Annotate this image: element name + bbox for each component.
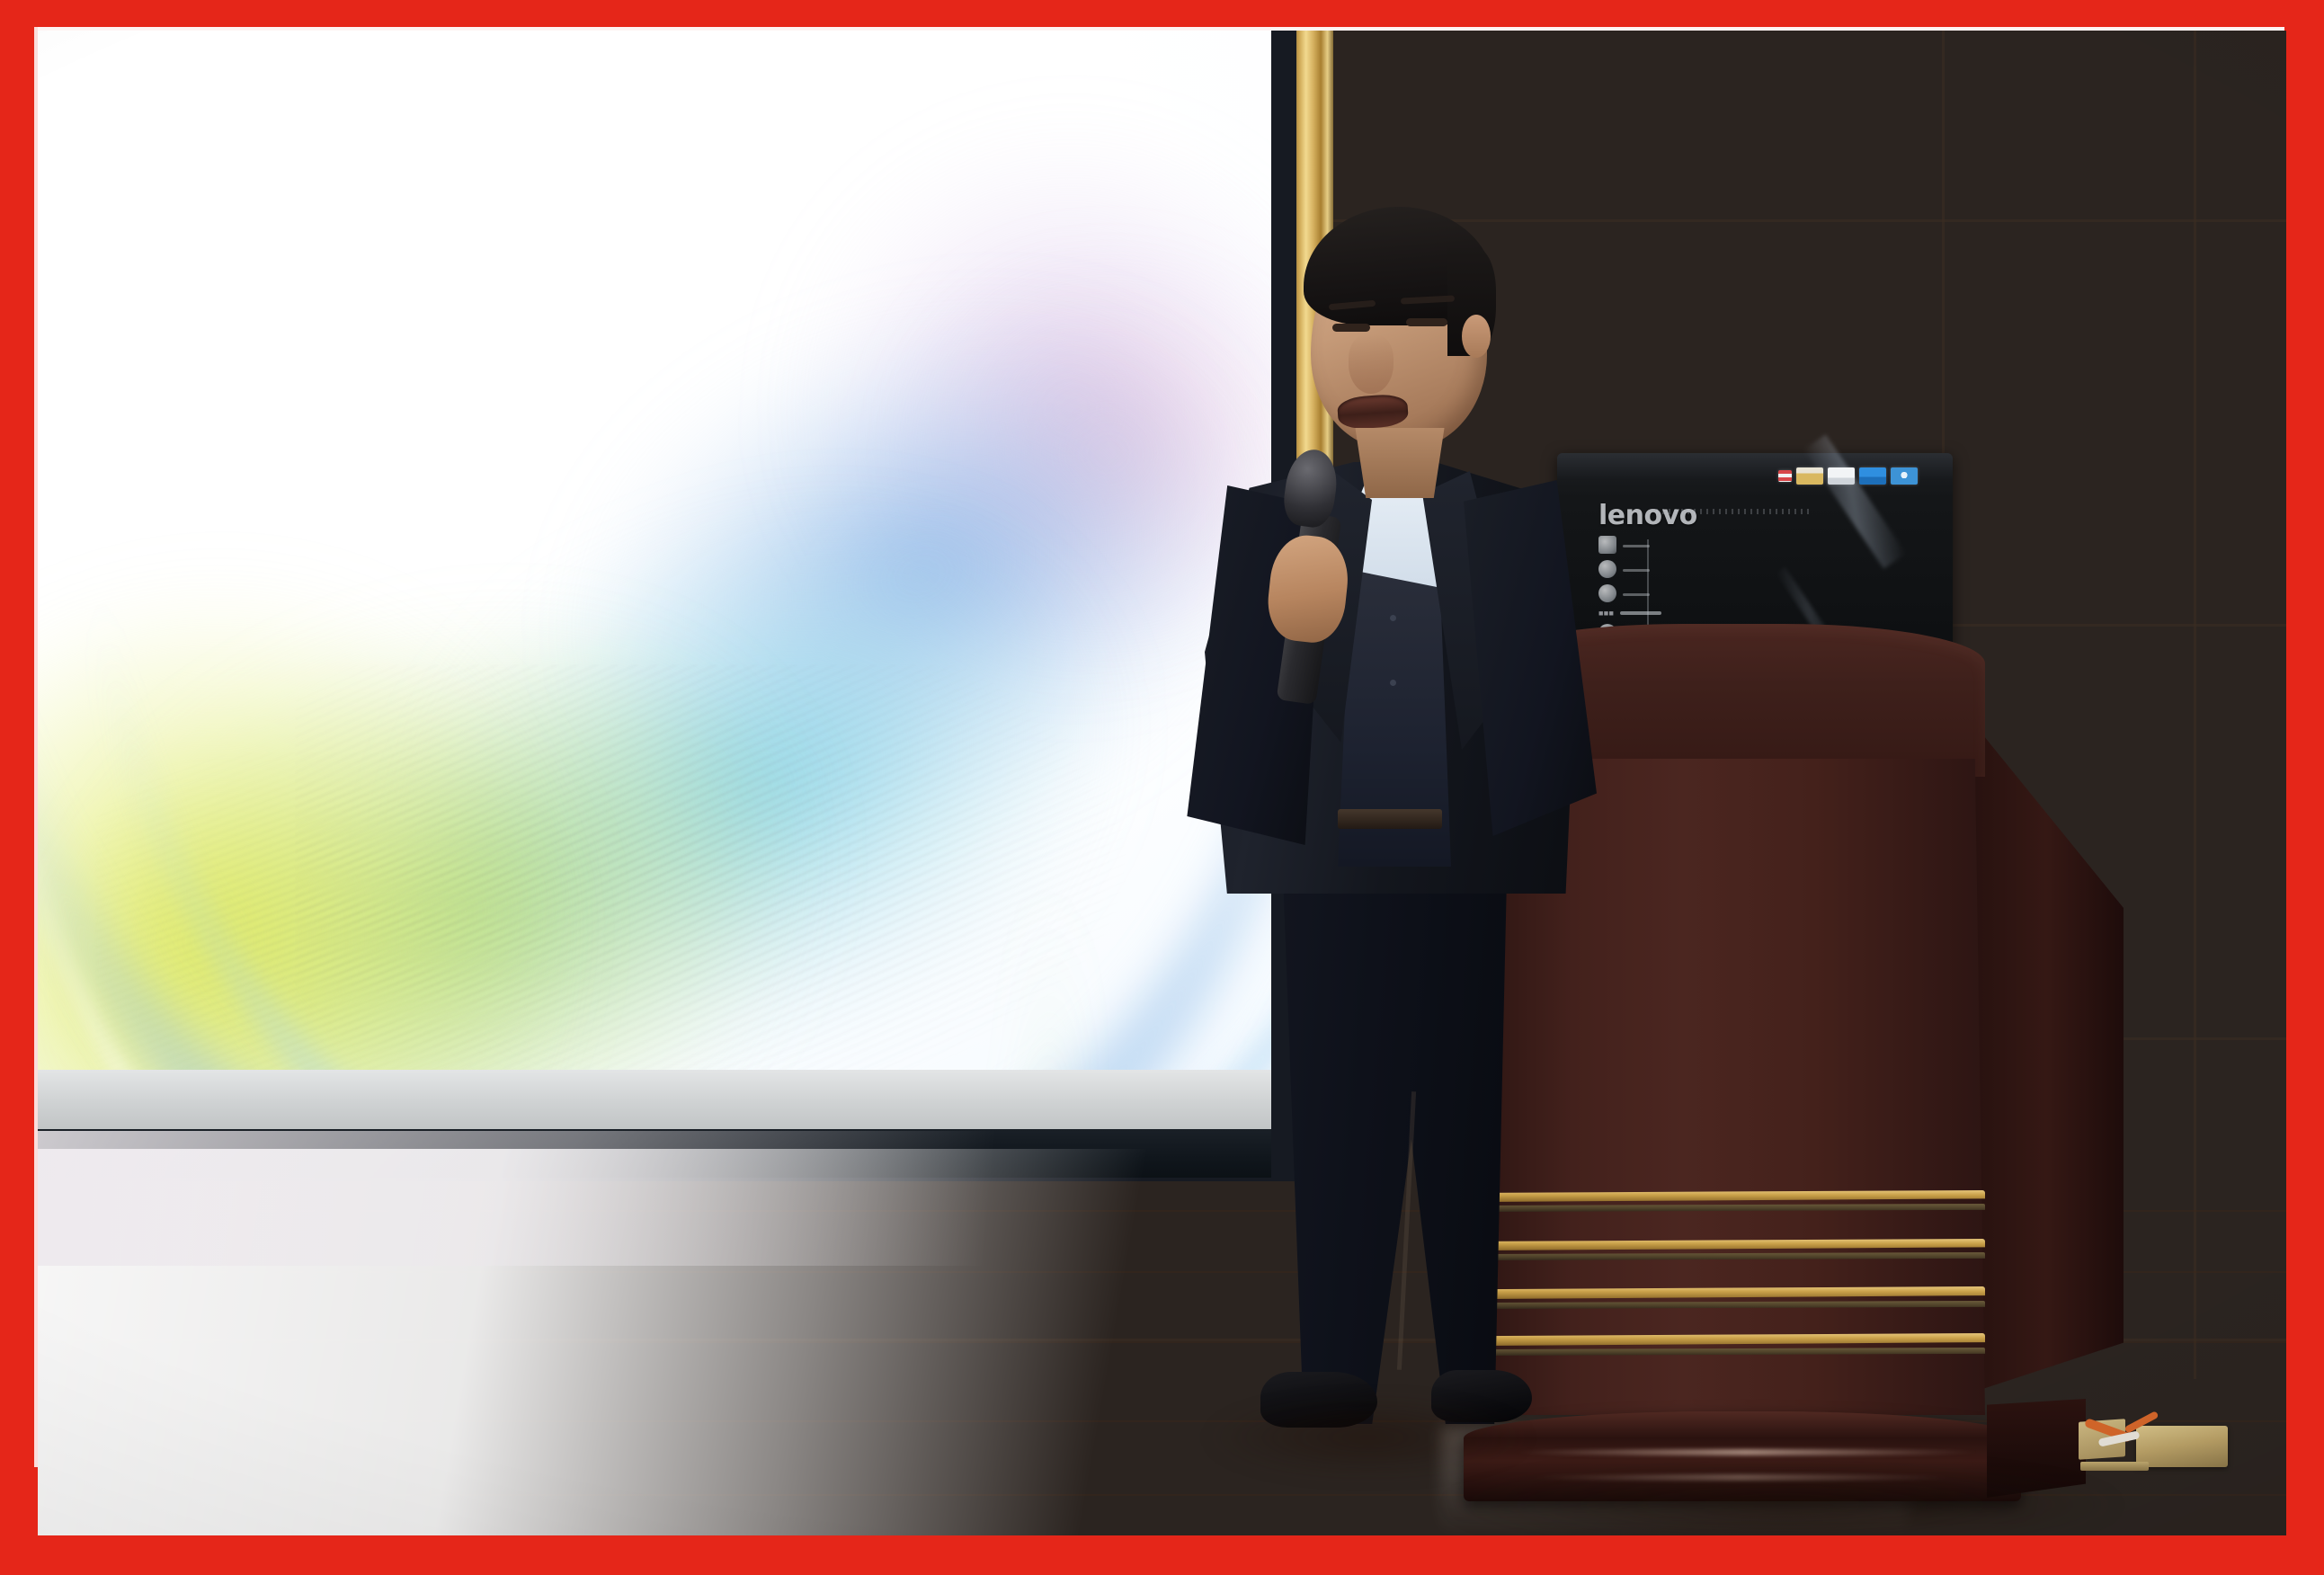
- photograph: lenovo: [38, 31, 2286, 1535]
- screenshot-stage: lenovo: [0, 0, 2324, 1575]
- red-white-sticker-icon: [1778, 470, 1792, 482]
- speaker-floor-shadow: [1207, 1397, 1530, 1478]
- speaker-vest-buttons: [1390, 615, 1396, 621]
- blue-sticker-icon: [1859, 467, 1886, 485]
- blue-sticker-2-icon: [1891, 467, 1918, 485]
- speaker-eye-right: [1406, 318, 1447, 326]
- monitor-badge-row[interactable]: [1778, 467, 1918, 485]
- red-photo-border: lenovo: [0, 0, 2324, 1575]
- gold-sticker-icon: [1796, 467, 1823, 485]
- floor-port-cover: [2136, 1426, 2228, 1467]
- floor-port-base-plate: [2080, 1462, 2149, 1471]
- screen-dead-band: [38, 1070, 1271, 1129]
- speaker-belt: [1338, 809, 1442, 829]
- speaker-vest-buttons-2: [1390, 680, 1396, 686]
- floor-projector-washout-upper: [38, 1131, 1224, 1266]
- projection-screen-surface: [38, 31, 1271, 1129]
- white-sticker-icon: [1828, 467, 1855, 485]
- speaker: [1135, 183, 1710, 1487]
- floor-cable-port[interactable]: [2071, 1375, 2262, 1485]
- speaker-nose: [1349, 334, 1394, 394]
- speaker-ear: [1462, 315, 1491, 358]
- speaker-eye-left: [1332, 324, 1370, 332]
